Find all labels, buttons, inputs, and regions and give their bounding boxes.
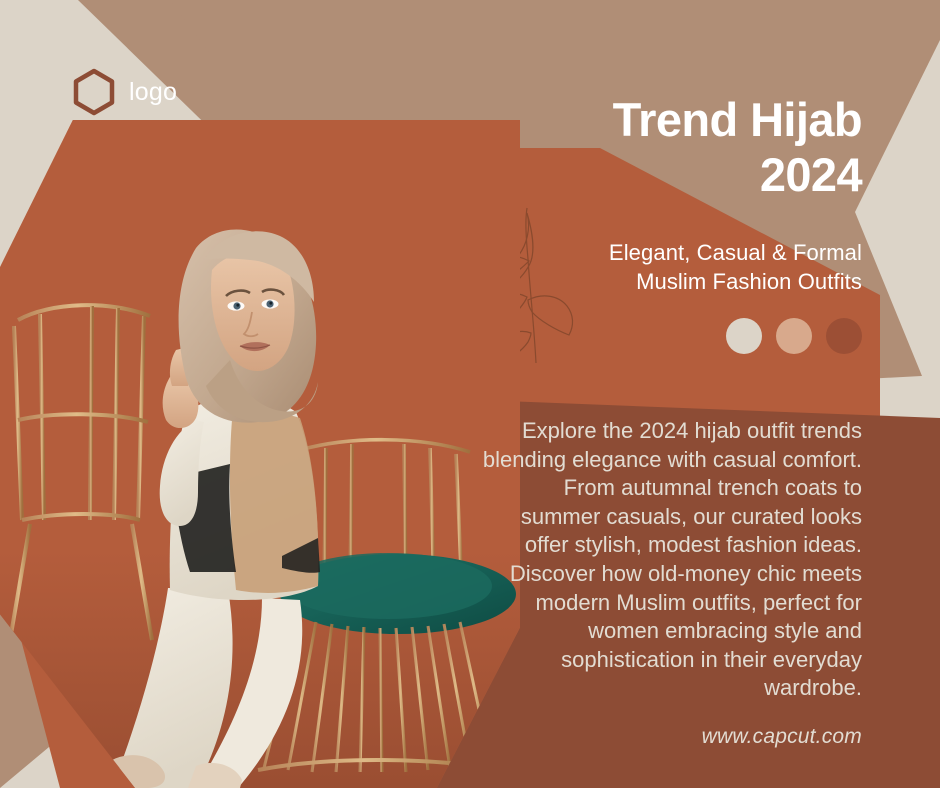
- swatch-cream[interactable]: [726, 318, 762, 354]
- body-copy-block: Explore the 2024 hijab outfit trends ble…: [482, 417, 862, 749]
- headline-line-2: 2024: [472, 147, 862, 202]
- subtitle-block: Elegant, Casual & Formal Muslim Fashion …: [462, 238, 862, 297]
- swatch-peach[interactable]: [776, 318, 812, 354]
- swatch-rust[interactable]: [826, 318, 862, 354]
- website-url[interactable]: www.capcut.com: [482, 725, 862, 749]
- headline-line-1: Trend Hijab: [472, 92, 862, 147]
- color-swatch-group: [726, 318, 862, 354]
- logo-block[interactable]: logo: [72, 68, 177, 116]
- hexagon-outline-icon: [72, 68, 116, 116]
- body-paragraph: Explore the 2024 hijab outfit trends ble…: [482, 417, 862, 703]
- headline-block: Trend Hijab 2024: [472, 92, 862, 203]
- logo-label: logo: [129, 80, 177, 105]
- poster-canvas: logo Trend Hijab 2024 Elegant, Casual & …: [0, 0, 940, 788]
- subtitle-line-1: Elegant, Casual & Formal: [462, 238, 862, 267]
- hero-photo: [0, 120, 520, 788]
- subtitle-line-2: Muslim Fashion Outfits: [462, 267, 862, 296]
